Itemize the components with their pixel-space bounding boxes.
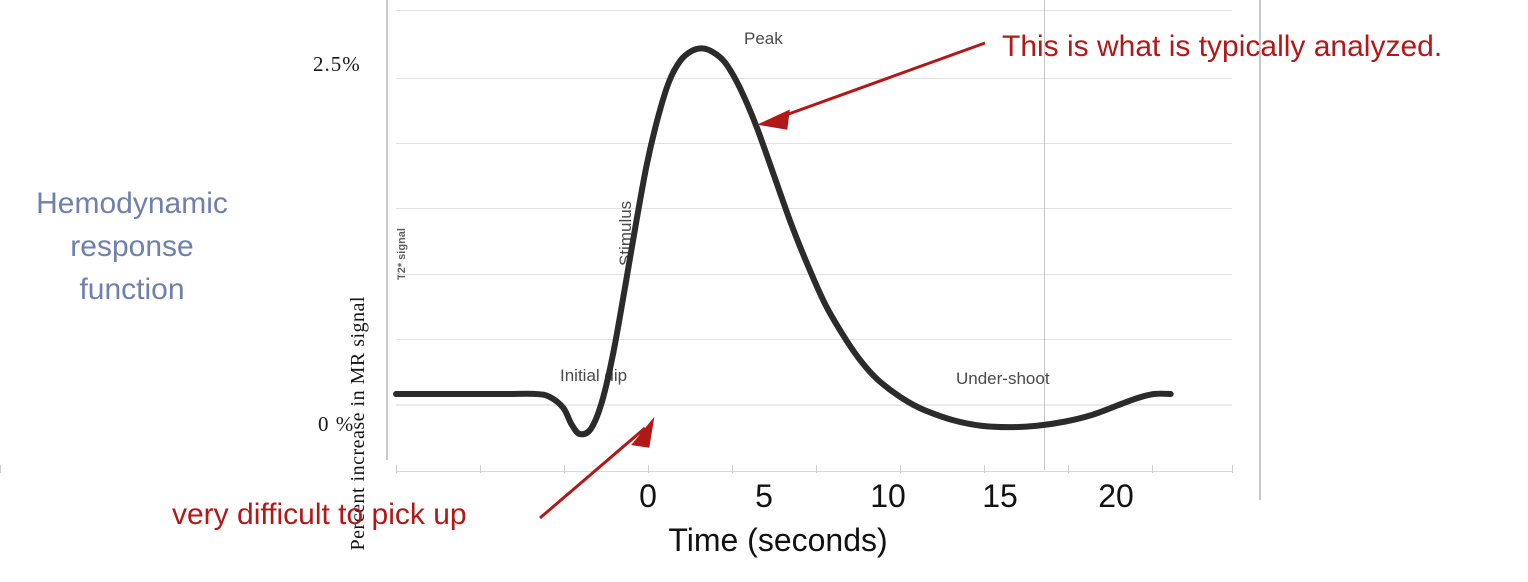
stimulus-label: Stimulus [616, 201, 636, 266]
x-tick-label: 15 [982, 478, 1018, 515]
x-axis-tick [816, 465, 817, 473]
gridline [396, 274, 1232, 275]
x-axis-tick [1232, 465, 1233, 473]
x-axis-line [396, 471, 1232, 472]
x-tick-label: 10 [870, 478, 906, 515]
x-axis-tick [1068, 465, 1069, 473]
x-tick-label: 20 [1098, 478, 1134, 515]
x-axis-tick [0, 465, 1, 473]
gridline [396, 143, 1232, 144]
callout-difficult-to-pick-up: very difficult to pick up [172, 498, 467, 532]
x-tick-label: 5 [755, 478, 773, 515]
zero-gridline [396, 404, 1232, 406]
callout-typically-analyzed: This is what is typically analyzed. [1002, 30, 1442, 64]
y-axis-title-wrap: Percent increase in MR signal [352, 96, 376, 396]
figure-root: Hemodynamic response function 2.5% 0 % P… [0, 0, 1528, 582]
x-axis-tick [396, 465, 397, 473]
x-axis-tick [564, 465, 565, 473]
x-axis-tick [648, 465, 649, 473]
stimulus-label-wrap: Stimulus [616, 166, 636, 266]
figure-caption: Hemodynamic response function [14, 182, 250, 311]
x-axis-tick [984, 465, 985, 473]
plot-area [396, 0, 1232, 470]
gridline [396, 78, 1232, 79]
x-axis-tick [480, 465, 481, 473]
annotation-peak: Peak [744, 29, 783, 49]
stimulus-vertical-line [1044, 0, 1045, 470]
x-tick-label: 0 [639, 478, 657, 515]
x-axis-title: Time (seconds) [668, 522, 887, 559]
x-axis-tick [1152, 465, 1153, 473]
annotation-under-shoot: Under-shoot [956, 369, 1050, 389]
chart-left-border [386, 0, 388, 460]
x-axis-tick [900, 465, 901, 473]
x-axis-tick [732, 465, 733, 473]
gridline [396, 339, 1232, 340]
gridline [396, 208, 1232, 209]
chart-right-border [1259, 0, 1261, 500]
y-tick-label-top: 2.5% [313, 52, 361, 77]
annotation-initial-dip: Initial dip [560, 366, 627, 386]
gridline [396, 10, 1232, 11]
